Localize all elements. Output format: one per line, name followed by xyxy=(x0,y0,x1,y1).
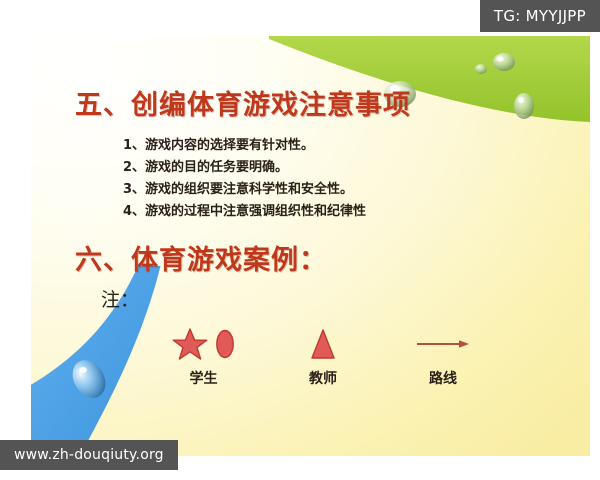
legend-glyphs xyxy=(268,322,378,366)
list-item: 2、游戏的目的任务要明确。 xyxy=(123,157,366,179)
legend-item-teacher: 教师 xyxy=(268,322,378,388)
triangle-icon xyxy=(310,328,336,360)
star-icon xyxy=(172,327,208,362)
list-item-number: 1、 xyxy=(123,138,145,153)
ellipse-icon xyxy=(215,328,235,360)
arrow-icon xyxy=(415,336,471,352)
list-item-number: 4、 xyxy=(123,204,145,219)
section-heading-five: 五、创编体育游戏注意事项 xyxy=(75,83,411,122)
tg-badge: TG: MYYJJPP xyxy=(480,0,600,32)
legend-label: 教师 xyxy=(268,368,378,388)
list-item: 1、游戏内容的选择要有针对性。 xyxy=(123,135,366,157)
list-item-number: 3、 xyxy=(123,182,145,197)
legend-label: 路线 xyxy=(383,368,503,388)
list-item-text: 游戏内容的选择要有针对性。 xyxy=(145,138,314,153)
slide-content: 五、创编体育游戏注意事项 1、游戏内容的选择要有针对性。 2、游戏的目的任务要明… xyxy=(31,36,590,456)
list-item-number: 2、 xyxy=(123,160,145,175)
list-item-text: 游戏的目的任务要明确。 xyxy=(145,160,288,175)
list-item-text: 游戏的过程中注意强调组织性和纪律性 xyxy=(145,204,366,219)
legend-item-route: 路线 xyxy=(383,322,503,388)
legend: 学生 教师 路线 xyxy=(31,322,590,412)
legend-glyphs xyxy=(146,322,261,366)
legend-item-student: 学生 xyxy=(146,322,261,388)
section-heading-six: 六、体育游戏案例： xyxy=(75,238,327,277)
site-watermark: www.zh-douqiuty.org xyxy=(0,440,178,470)
slide-canvas: 五、创编体育游戏注意事项 1、游戏内容的选择要有针对性。 2、游戏的目的任务要明… xyxy=(31,36,590,456)
note-label: 注： xyxy=(101,285,139,312)
notice-list: 1、游戏内容的选择要有针对性。 2、游戏的目的任务要明确。 3、游戏的组织要注意… xyxy=(123,135,366,223)
list-item-text: 游戏的组织要注意科学性和安全性。 xyxy=(145,182,353,197)
list-item: 3、游戏的组织要注意科学性和安全性。 xyxy=(123,179,366,201)
legend-glyphs xyxy=(383,322,503,366)
legend-label: 学生 xyxy=(146,368,261,388)
list-item: 4、游戏的过程中注意强调组织性和纪律性 xyxy=(123,201,366,223)
